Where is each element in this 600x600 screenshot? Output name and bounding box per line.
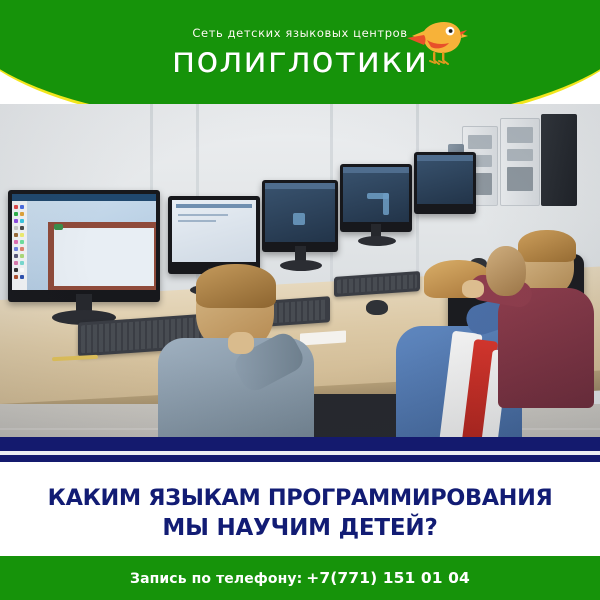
footer-phone-number[interactable]: +7(771) 151 01 04 — [306, 569, 470, 587]
color-palette-panel — [12, 201, 27, 290]
classroom-photo — [0, 104, 600, 438]
monitor-screen — [172, 200, 256, 262]
child-hand — [228, 332, 254, 354]
monitor-screen — [12, 194, 156, 290]
pc-tower — [500, 118, 540, 206]
canvas-doorway — [84, 274, 110, 282]
headline: КАКИМ ЯЗЫКАМ ПРОГРАММИРОВАНИЯ МЫ НАУЧИМ … — [0, 470, 600, 555]
monitor — [8, 190, 160, 302]
headline-line-1: КАКИМ ЯЗЫКАМ ПРОГРАММИРОВАНИЯ — [48, 483, 553, 513]
monitor-screen — [417, 155, 473, 204]
canvas-marker — [54, 224, 63, 230]
child-hand — [462, 280, 484, 298]
logo[interactable]: Сеть детских языковых центров полиглотик… — [0, 26, 600, 81]
footer-contact: Запись по телефону:+7(771) 151 01 04 — [130, 569, 470, 587]
monitor — [168, 196, 260, 274]
promo-banner: Сеть детских языковых центров полиглотик… — [0, 0, 600, 600]
mouse — [366, 300, 388, 315]
logo-tagline: Сеть детских языковых центров — [0, 26, 600, 40]
monitor — [414, 152, 476, 214]
divider-bar-top — [0, 437, 600, 451]
child-hair — [518, 230, 576, 262]
divider-bar-bottom — [0, 455, 600, 462]
monitor — [340, 164, 412, 232]
logo-brand-name: полиглотики — [0, 41, 600, 81]
monitor — [262, 180, 338, 252]
child-hair — [196, 264, 276, 308]
footer-label: Запись по телефону: — [130, 571, 302, 587]
headline-line-2: МЫ НАУЧИМ ДЕТЕЙ? — [162, 513, 437, 543]
child-head — [486, 246, 526, 296]
monitor-screen — [265, 183, 335, 242]
bird-icon — [404, 14, 468, 70]
monitor-screen — [343, 167, 409, 222]
pc-tower-dark — [541, 114, 577, 206]
app-titlebar — [12, 194, 156, 201]
footer: Запись по телефону:+7(771) 151 01 04 — [0, 556, 600, 600]
